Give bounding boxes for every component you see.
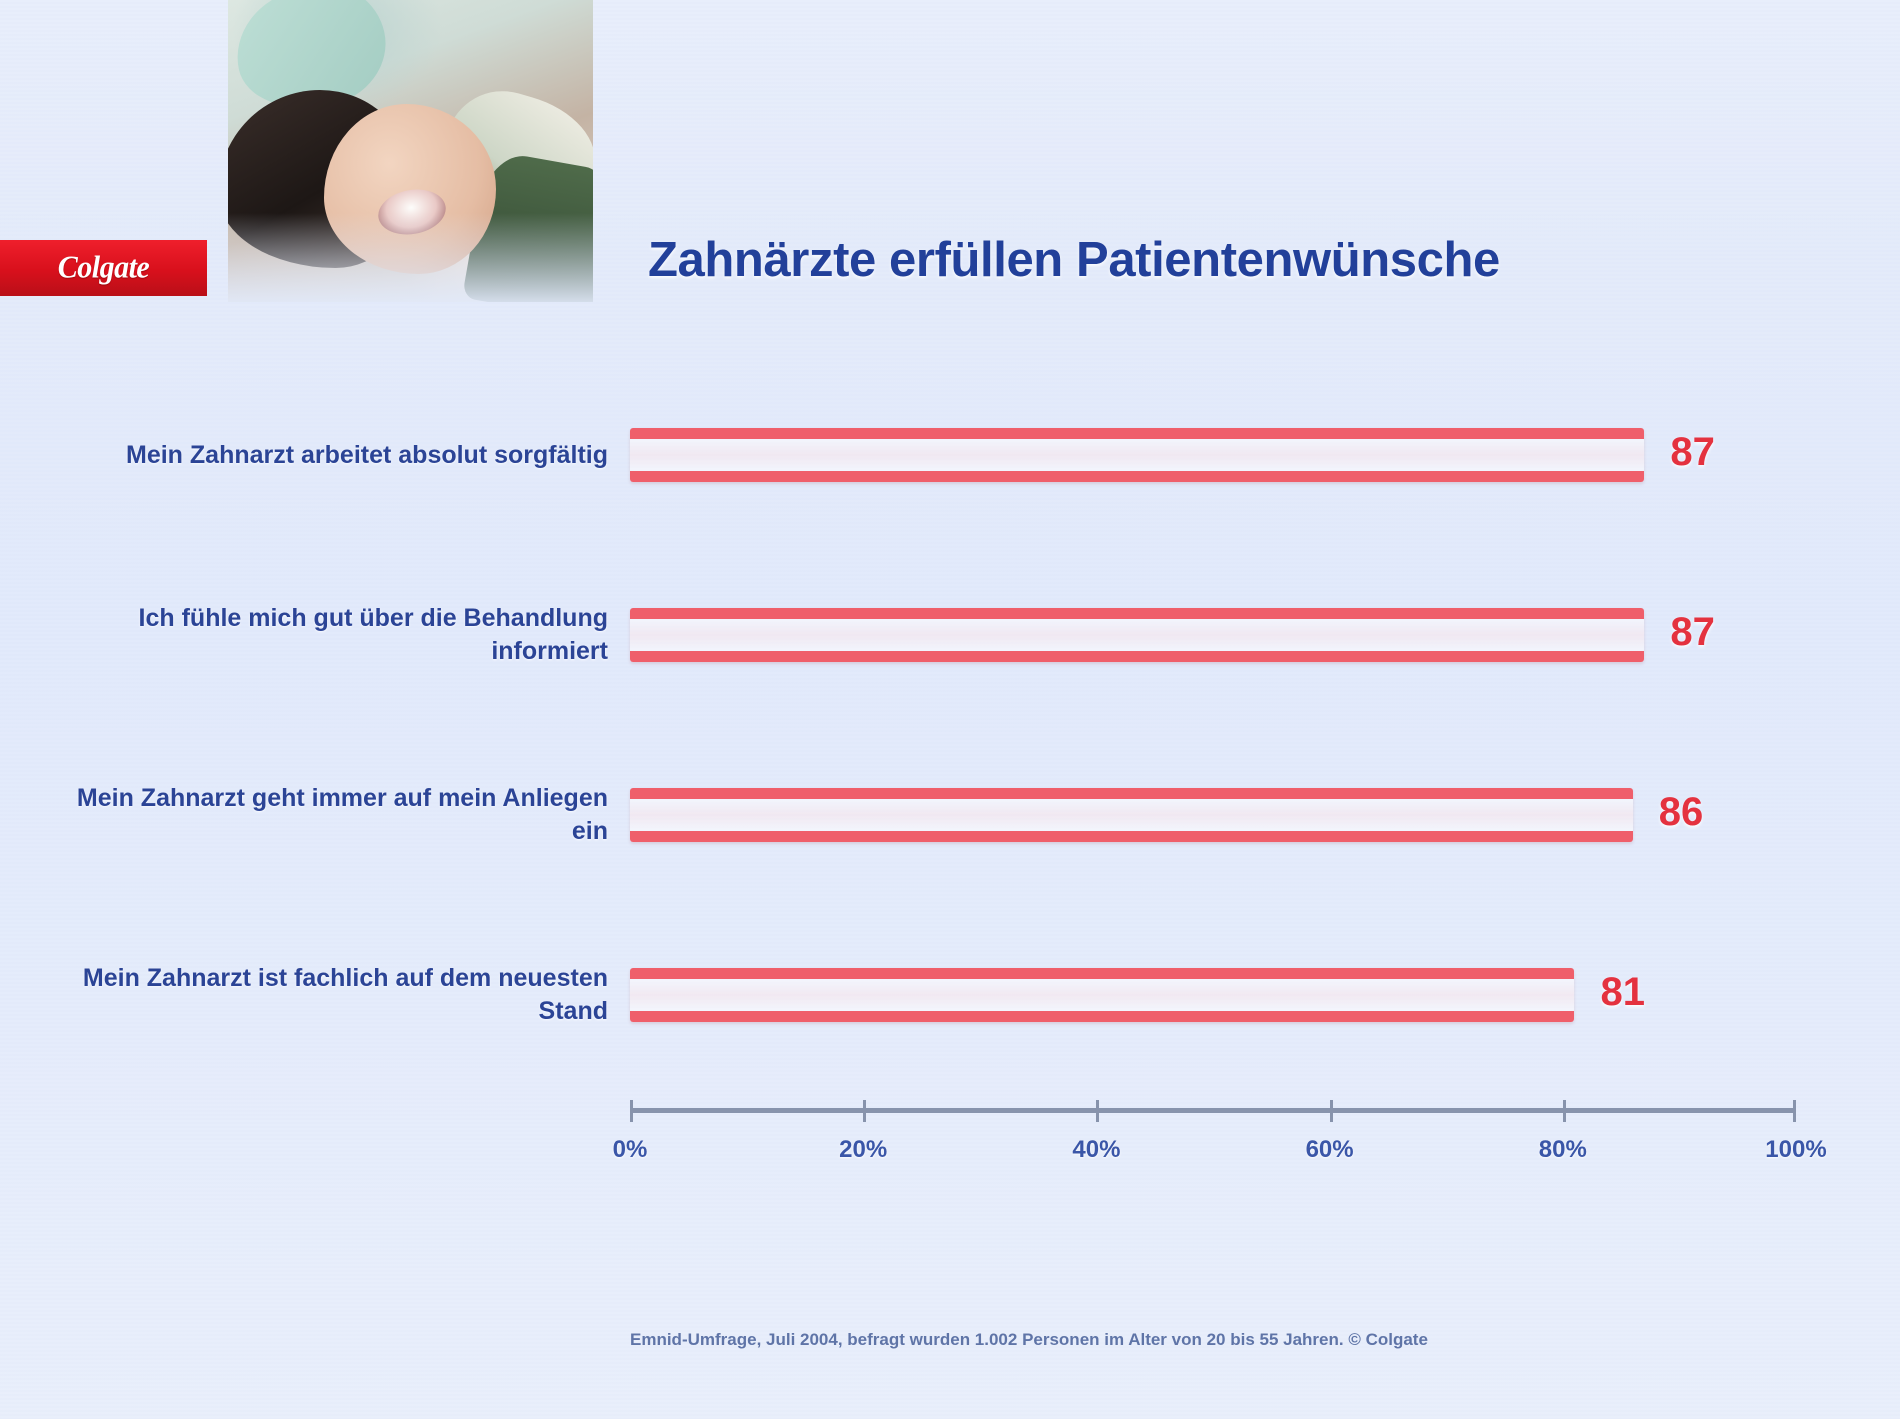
colgate-logo: Colgate [0,240,207,296]
bar [630,788,1633,842]
x-axis-tick-label: 60% [1306,1136,1354,1164]
category-label: Mein Zahnarzt arbeitet absolut sorgfälti… [60,439,630,472]
x-axis-tick-labels: 0%20%40%60%80%100% [630,1136,1796,1176]
source-note: Emnid-Umfrage, Juli 2004, befragt wurden… [630,1330,1850,1350]
x-axis-tick-label: 80% [1539,1136,1587,1164]
x-axis-tick [863,1100,866,1122]
category-label: Ich fühle mich gut über die Behandlung i… [60,602,630,668]
bar-value-label: 87 [1670,610,1715,655]
colgate-logo-text: Colgate [58,250,150,286]
bar-value-label: 81 [1600,970,1645,1015]
dentist-treating-patient-photo [228,0,593,302]
x-axis-tick-label: 40% [1072,1136,1120,1164]
chart-row: Ich fühle mich gut über die Behandlung i… [60,590,1850,680]
x-axis-tick [630,1100,633,1122]
x-axis-line [630,1108,1796,1113]
bar-track: 86 [630,770,1796,860]
x-axis-tick-label: 20% [839,1136,887,1164]
x-axis-tick [1096,1100,1099,1122]
x-axis-tick [1793,1100,1796,1122]
bar-track: 87 [630,590,1796,680]
x-axis-tick-label: 0% [613,1136,648,1164]
horizontal-bar-chart: Mein Zahnarzt arbeitet absolut sorgfälti… [0,330,1900,1170]
bar [630,608,1644,662]
page-title: Zahnärzte erfüllen Patientenwünsche [648,232,1500,288]
bar [630,968,1574,1022]
header: Colgate Zahnärzte erfüllen Patientenwüns… [0,0,1900,330]
chart-row: Mein Zahnarzt ist fachlich auf dem neues… [60,950,1850,1040]
chart-row: Mein Zahnarzt geht immer auf mein Anlieg… [60,770,1850,860]
infographic-page: Colgate Zahnärzte erfüllen Patientenwüns… [0,0,1900,1419]
x-axis-tick-label: 100% [1765,1136,1826,1164]
bar [630,428,1644,482]
bar-value-label: 87 [1670,430,1715,475]
x-axis-tick [1563,1100,1566,1122]
x-axis-tick [1330,1100,1333,1122]
bar-value-label: 86 [1659,790,1704,835]
bar-track: 87 [630,410,1796,500]
bar-track: 81 [630,950,1796,1040]
category-label: Mein Zahnarzt ist fachlich auf dem neues… [60,962,630,1028]
photo-fade-overlay [228,0,593,302]
category-label: Mein Zahnarzt geht immer auf mein Anlieg… [60,782,630,848]
chart-row: Mein Zahnarzt arbeitet absolut sorgfälti… [60,410,1850,500]
x-axis [630,1100,1796,1140]
